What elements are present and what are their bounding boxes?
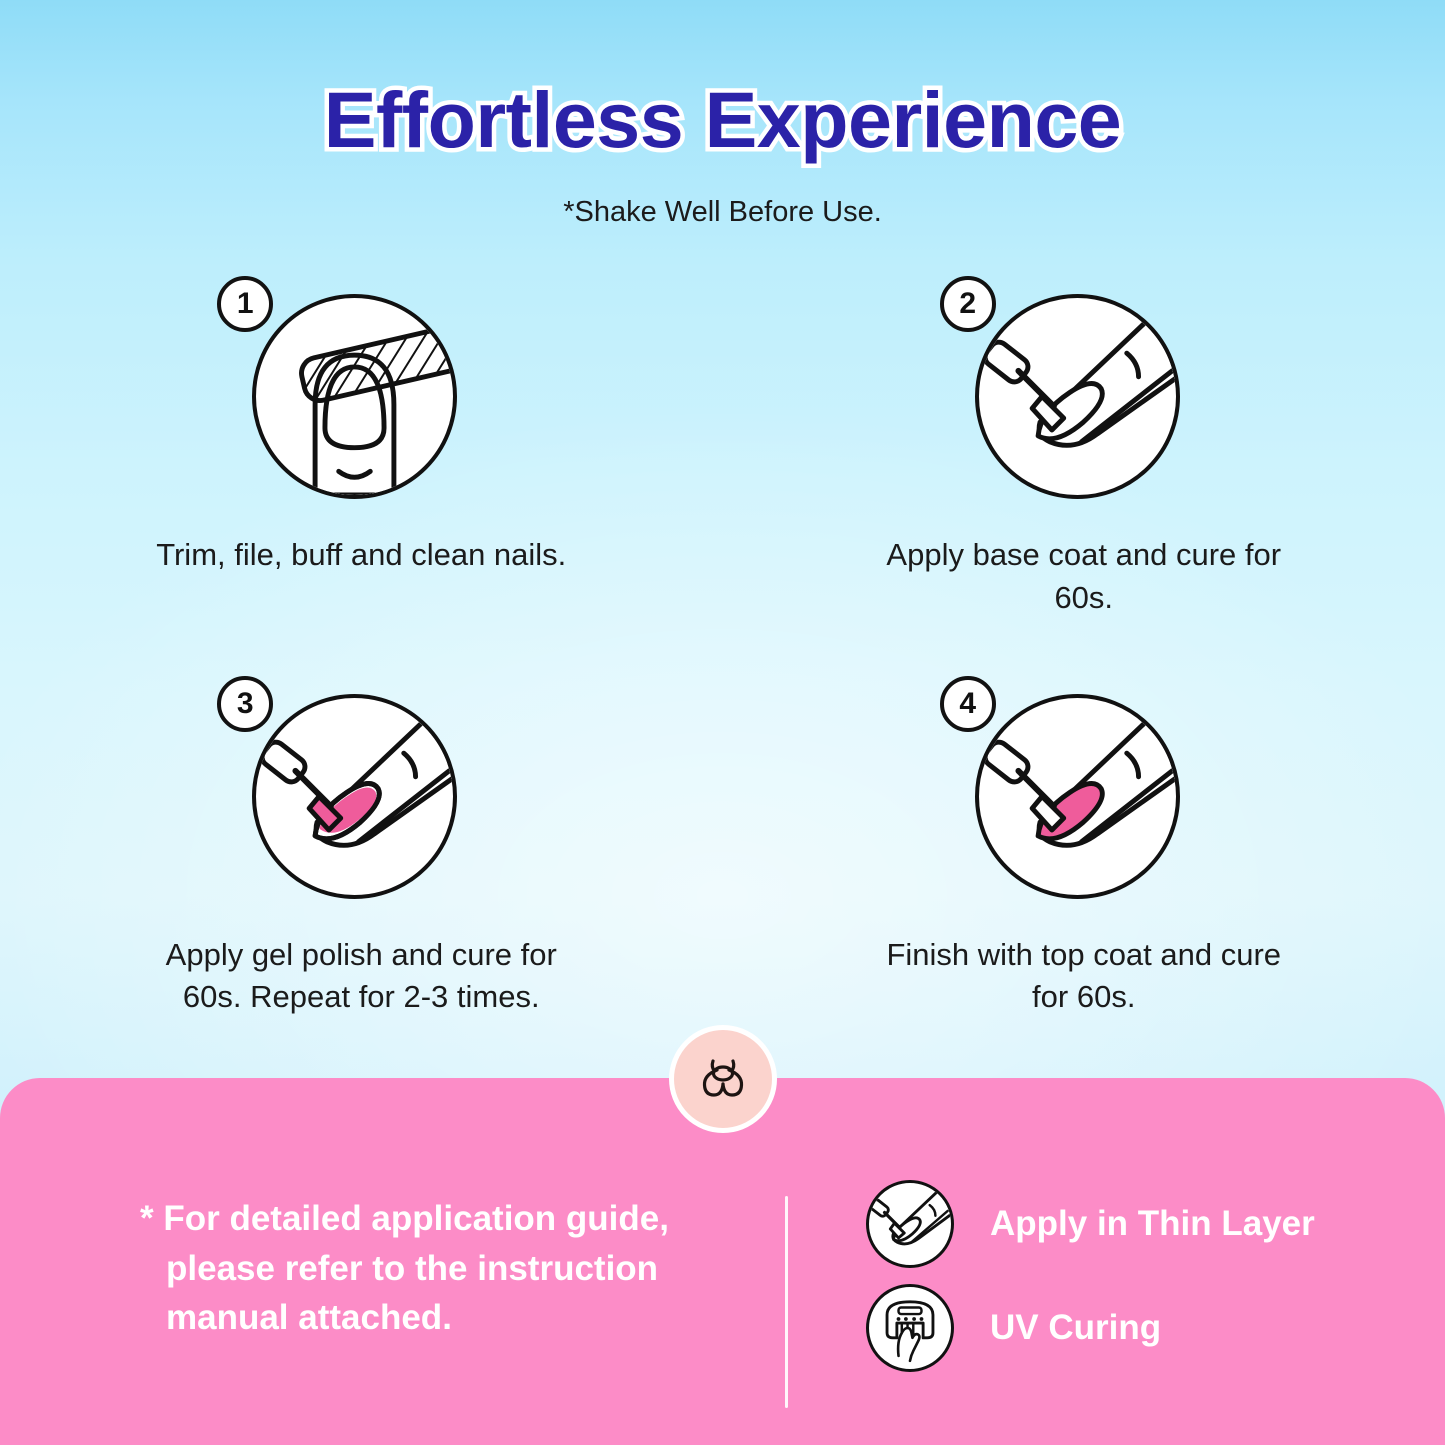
footer-features: Apply in Thin Layer bbox=[866, 1180, 1315, 1372]
nail-file-icon bbox=[252, 294, 457, 499]
step-number-badge-4: 4 bbox=[940, 676, 996, 732]
top-coat-brush-icon bbox=[975, 694, 1180, 899]
feature-apply-thin-layer: Apply in Thin Layer bbox=[866, 1180, 1315, 1268]
infographic-poster: Effortless Experience *Shake Well Before… bbox=[0, 0, 1445, 1445]
step-item-4: 4 bbox=[723, 676, 1445, 1020]
base-coat-brush-icon bbox=[975, 294, 1180, 499]
step-item-1: 1 bbox=[0, 276, 723, 620]
step-caption-3: Apply gel polish and cure for 60s. Repea… bbox=[151, 934, 571, 1020]
footer-divider bbox=[785, 1196, 788, 1408]
step-number-badge-1: 1 bbox=[217, 276, 273, 332]
step-art-3: 3 bbox=[211, 676, 511, 914]
step-caption-4: Finish with top coat and cure for 60s. bbox=[874, 934, 1294, 1020]
gel-polish-brush-icon bbox=[252, 694, 457, 899]
step-number-badge-3: 3 bbox=[217, 676, 273, 732]
steps-grid: 1 bbox=[0, 276, 1445, 1019]
step-art-1: 1 bbox=[211, 276, 511, 514]
footer-panel: * For detailed application guide, please… bbox=[0, 1078, 1445, 1445]
step-number-badge-2: 2 bbox=[940, 276, 996, 332]
footer-note: * For detailed application guide, please… bbox=[140, 1194, 740, 1343]
page-title: Effortless Experience bbox=[0, 74, 1445, 166]
feature-label-thin-layer: Apply in Thin Layer bbox=[990, 1204, 1315, 1244]
uv-lamp-icon bbox=[866, 1284, 954, 1372]
step-item-3: 3 bbox=[0, 676, 723, 1020]
step-art-4: 4 bbox=[934, 676, 1234, 914]
brand-badge bbox=[669, 1025, 777, 1133]
step-item-2: 2 bbox=[723, 276, 1445, 620]
page-subtitle: *Shake Well Before Use. bbox=[0, 196, 1445, 229]
thin-layer-brush-icon bbox=[866, 1180, 954, 1268]
feature-label-uv-curing: UV Curing bbox=[990, 1308, 1161, 1348]
bee-logo-icon bbox=[695, 1051, 751, 1107]
feature-uv-curing: UV Curing bbox=[866, 1284, 1315, 1372]
step-caption-1: Trim, file, buff and clean nails. bbox=[151, 534, 571, 577]
step-caption-2: Apply base coat and cure for 60s. bbox=[874, 534, 1294, 620]
step-art-2: 2 bbox=[934, 276, 1234, 514]
